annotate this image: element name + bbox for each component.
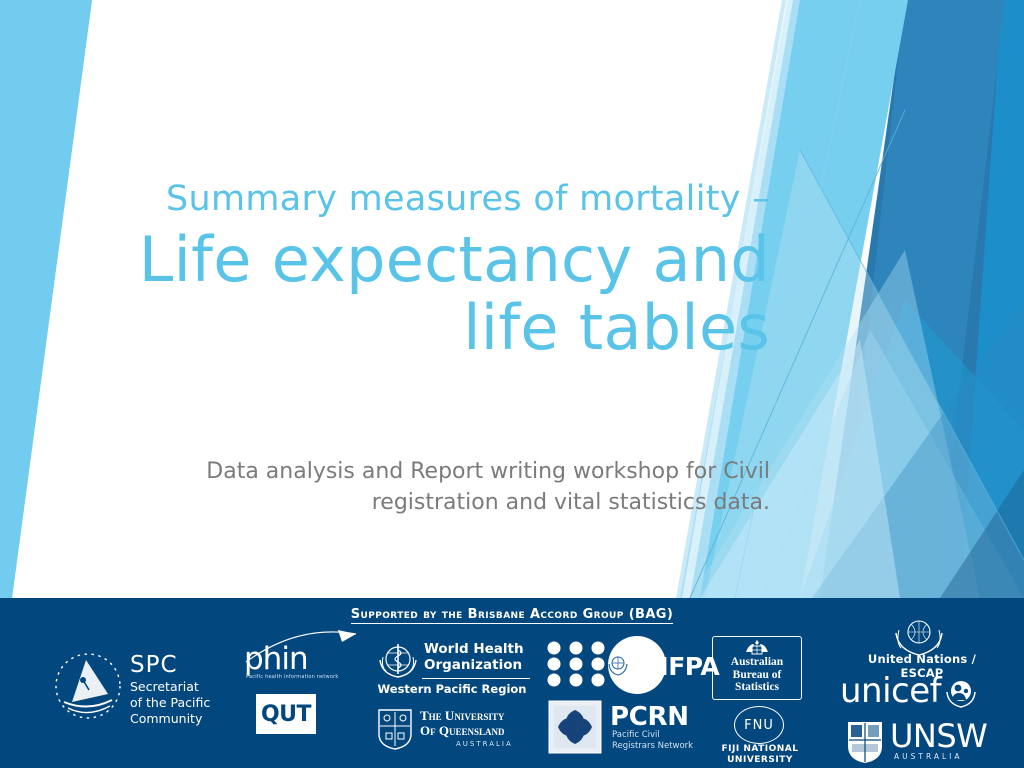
logo-phin: phin Pacific health information network <box>244 642 340 688</box>
logo-pcrn-sub-1: Pacific Civil <box>612 730 693 741</box>
logo-phin-name: phin <box>244 644 308 675</box>
logo-uq-line2: Of Queensland <box>420 723 504 739</box>
logo-who-region: Western Pacific Region <box>372 682 532 696</box>
logo-qut-name: QUT <box>261 702 311 727</box>
logo-abs-line3: Statistics <box>713 681 801 694</box>
banner-heading-text: Supported by the Brisbane Accord Group (… <box>351 607 673 624</box>
slide-subtitle: Data analysis and Report writing worksho… <box>160 456 770 518</box>
logo-who-name-2: Organization <box>424 658 524 674</box>
logo-uq: The University Of Queensland AUSTRALIA <box>372 708 537 754</box>
logo-phin-tagline: Pacific health information network <box>246 674 338 680</box>
logo-pcrn-name: PCRN <box>610 702 689 732</box>
logo-escap: United Nations / ESCAP <box>852 616 992 674</box>
australian-coat-of-arms-icon <box>740 638 774 656</box>
pcrn-tapa-icon <box>548 700 602 754</box>
sponsor-logo-group: SPC Secretariat of the Pacific Community… <box>0 628 1024 768</box>
slide-title: Summary measures of mortality – Life exp… <box>120 182 770 365</box>
title-line-1: Summary measures of mortality – <box>120 182 770 217</box>
title-line-2: Life expectancy and <box>120 229 770 291</box>
logo-fnu-acronym: FNU <box>734 706 784 744</box>
logo-spc-name: SPC <box>130 652 178 678</box>
unsw-crest-icon <box>846 720 884 764</box>
logo-abs-line2: Bureau of <box>713 669 801 682</box>
logo-pcrn: PCRN Pacific Civil Registrars Network <box>548 700 708 758</box>
logo-abs-text: Australian Bureau of Statistics <box>713 656 801 694</box>
logo-abs: Australian Bureau of Statistics <box>712 636 802 700</box>
logo-who-divider <box>422 678 530 679</box>
sponsor-banner: Supported by the Brisbane Accord Group (… <box>0 598 1024 768</box>
logo-uq-line1: The University <box>420 708 504 724</box>
title-line-3: life tables <box>120 297 770 359</box>
logo-abs-line1: Australian <box>713 656 801 669</box>
logo-spc-sub: Secretariat of the Pacific Community <box>130 679 210 727</box>
presentation-slide: Summary measures of mortality – Life exp… <box>0 0 1024 768</box>
logo-who: World Health Organization Western Pacifi… <box>372 640 532 700</box>
logo-fnu: FNU FIJI NATIONAL UNIVERSITY <box>720 706 800 762</box>
logo-spc-sub-1: Secretariat <box>130 679 210 695</box>
logo-unfpa: UNFPA <box>546 636 676 694</box>
logo-unfpa-name: UNFPA <box>628 652 719 681</box>
unicef-mother-child-icon <box>944 678 978 708</box>
logo-qut: QUT <box>256 694 316 734</box>
logo-unsw-name: UNSW <box>890 720 987 752</box>
who-rod-of-asclepius-icon <box>374 640 422 680</box>
logo-fnu-sub-2: UNIVERSITY <box>720 755 800 766</box>
logo-pcrn-sub: Pacific Civil Registrars Network <box>612 730 693 751</box>
uq-crest-icon <box>377 708 413 750</box>
logo-uq-line3: AUSTRALIA <box>456 740 513 748</box>
logo-spc-sub-2: of the Pacific <box>130 695 210 711</box>
pacific-canoe-icon <box>52 650 124 722</box>
logo-who-name-1: World Health <box>424 642 524 658</box>
logo-spc: SPC Secretariat of the Pacific Community <box>52 646 267 741</box>
logo-unsw-sub: AUSTRALIA <box>894 752 963 761</box>
logo-spc-sub-3: Community <box>130 711 210 727</box>
logo-pcrn-sub-2: Registrars Network <box>612 741 693 752</box>
logo-fnu-sub: FIJI NATIONAL UNIVERSITY <box>720 744 800 767</box>
logo-fnu-sub-1: FIJI NATIONAL <box>720 744 800 755</box>
logo-who-name: World Health Organization <box>424 642 524 674</box>
logo-unicef-name: unicef <box>840 674 941 708</box>
logo-unsw: UNSW AUSTRALIA <box>846 720 1006 768</box>
logo-unicef: unicef <box>840 674 1000 718</box>
un-laurel-icon <box>606 653 630 677</box>
